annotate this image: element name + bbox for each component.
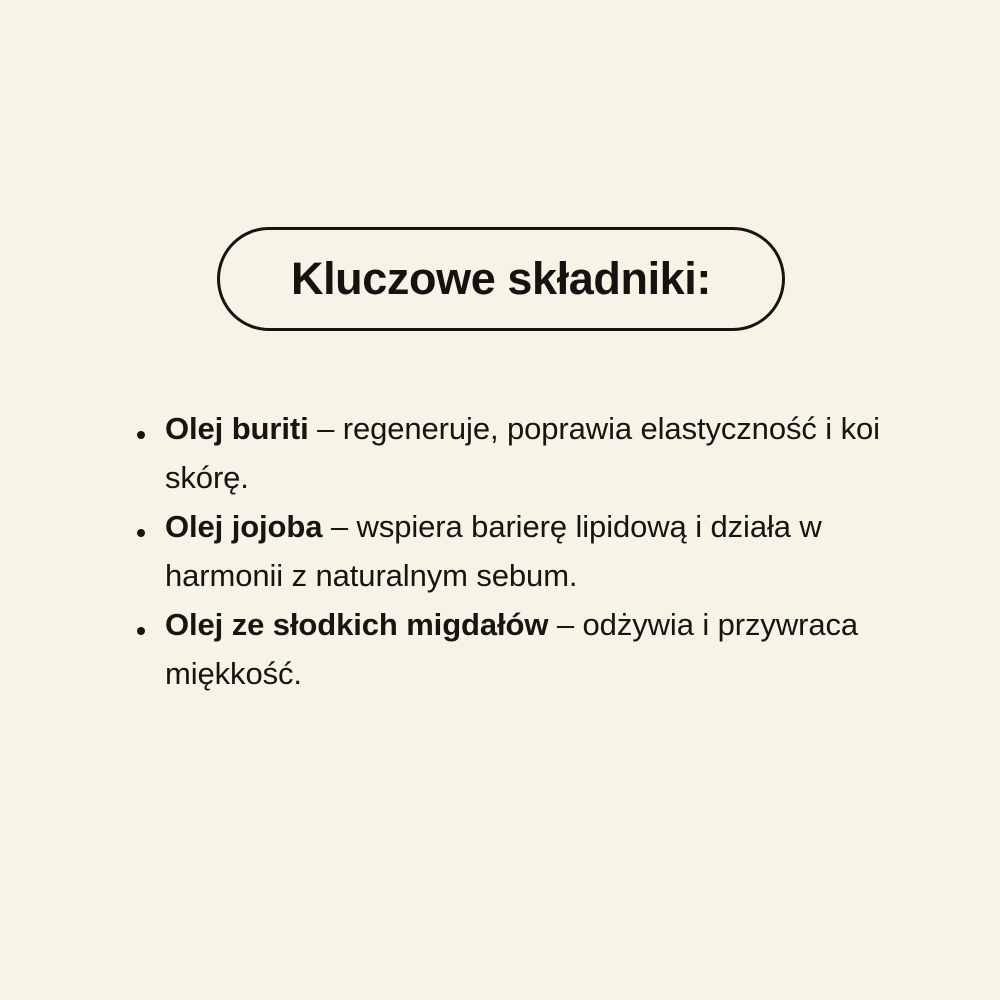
bullet-dot-icon xyxy=(137,627,145,635)
ingredient-name: Olej buriti xyxy=(165,411,309,446)
heading-pill: Kluczowe składniki: xyxy=(217,227,785,331)
list-item: Olej buriti – regeneruje, poprawia elast… xyxy=(132,404,922,502)
ingredient-name: Olej jojoba xyxy=(165,509,322,544)
page-title: Kluczowe składniki: xyxy=(283,256,719,301)
bullet-dot-icon xyxy=(137,431,145,439)
ingredients-list: Olej buriti – regeneruje, poprawia elast… xyxy=(132,404,922,698)
list-item: Olej ze słodkich migdałów – odżywia i pr… xyxy=(132,600,922,698)
bullet-dot-icon xyxy=(137,529,145,537)
slide-canvas: Kluczowe składniki: Olej buriti – regene… xyxy=(0,0,1000,1000)
ingredient-name: Olej ze słodkich migdałów xyxy=(165,607,548,642)
list-item: Olej jojoba – wspiera barierę lipidową i… xyxy=(132,502,922,600)
